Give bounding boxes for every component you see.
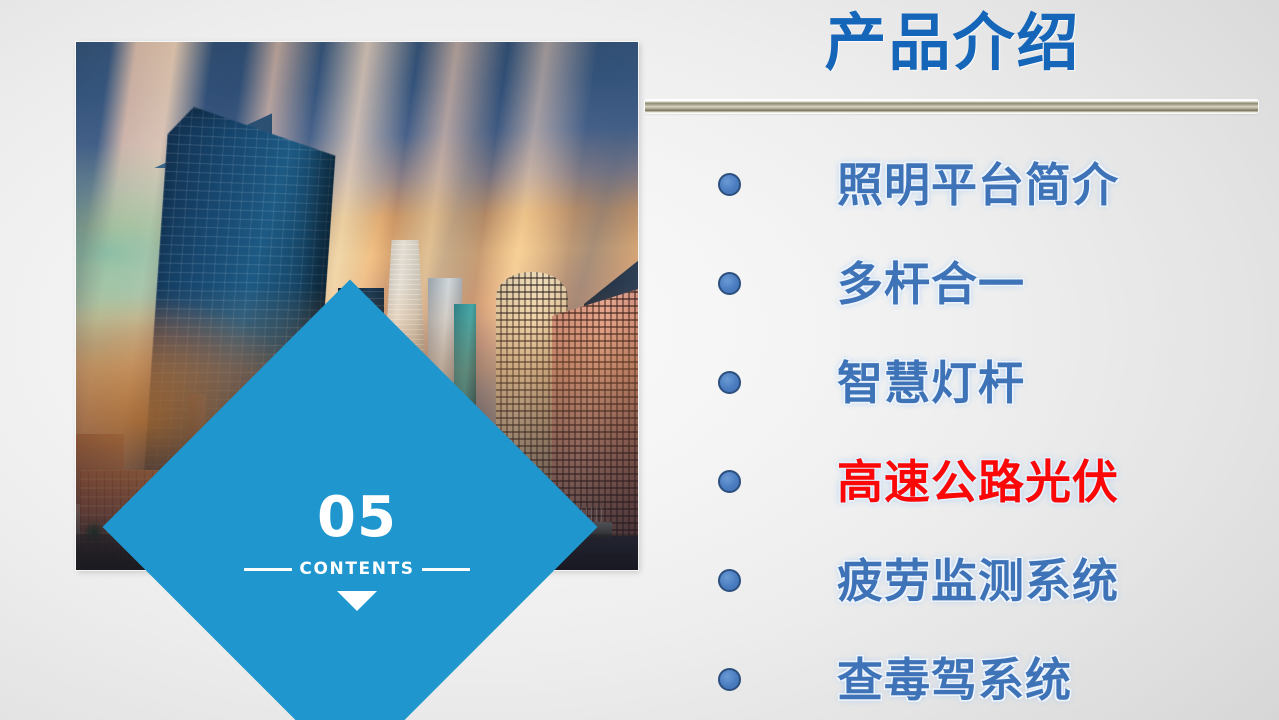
title-divider bbox=[645, 100, 1258, 113]
bullet-dot-icon bbox=[718, 173, 741, 196]
list-item[interactable]: 疲劳监测系统 bbox=[700, 531, 1260, 630]
bullet-dot-icon bbox=[718, 470, 741, 493]
bullet-dot-icon bbox=[718, 668, 741, 691]
page-title: 产品介绍 bbox=[645, 4, 1260, 82]
list-item[interactable]: 多杆合一 bbox=[700, 234, 1260, 333]
list-item[interactable]: 照明平台简介 bbox=[700, 135, 1260, 234]
list-item-highlighted[interactable]: 高速公路光伏 bbox=[700, 432, 1260, 531]
list-item[interactable]: 查毒驾系统 bbox=[700, 630, 1260, 720]
bullet-dot-icon bbox=[718, 272, 741, 295]
list-item-label: 多杆合一 bbox=[837, 261, 1025, 307]
bullet-dot-icon bbox=[718, 569, 741, 592]
list-item-label: 疲劳监测系统 bbox=[837, 558, 1119, 604]
list-item-label: 智慧灯杆 bbox=[837, 360, 1025, 406]
list-item-label: 查毒驾系统 bbox=[837, 657, 1072, 703]
list-item[interactable]: 智慧灯杆 bbox=[700, 333, 1260, 432]
list-item-label: 高速公路光伏 bbox=[837, 459, 1119, 505]
agenda-list: 照明平台简介 多杆合一 智慧灯杆 高速公路光伏 疲劳监测系统 查毒驾系统 bbox=[700, 135, 1260, 720]
bullet-dot-icon bbox=[718, 371, 741, 394]
list-item-label: 照明平台简介 bbox=[837, 162, 1119, 208]
presentation-slide: 05 CONTENTS 产品介绍 照明平台简介 多杆合一 智慧灯杆 高速公路光伏 bbox=[0, 0, 1279, 720]
